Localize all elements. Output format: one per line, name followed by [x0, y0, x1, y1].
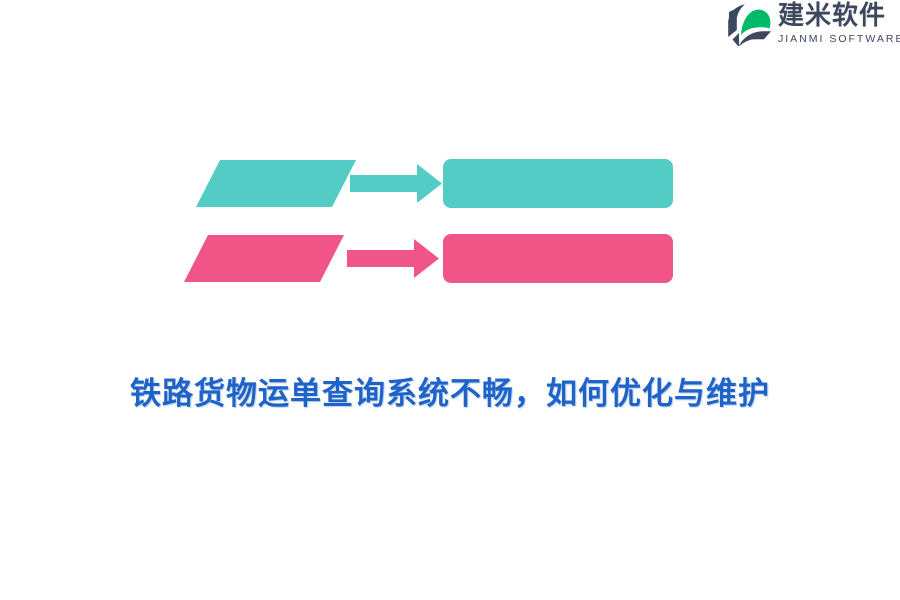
right-arrow-icon: [347, 239, 439, 278]
page-title: 铁路货物运单查询系统不畅，如何优化与维护: [0, 368, 900, 413]
flow-row-pink: [184, 234, 673, 283]
flow-parallelogram-pink: [184, 235, 344, 282]
brand-text-block: 建米软件 JIANMI SOFTWARE: [778, 3, 900, 45]
brand-logo: 建米软件 JIANMI SOFTWARE: [726, 0, 894, 48]
flow-parallelogram-teal: [196, 160, 356, 207]
flow-row-teal: [196, 159, 673, 208]
flow-card-pink: [443, 234, 673, 283]
brand-name-en: JIANMI SOFTWARE: [778, 34, 900, 45]
brand-name-cn: 建米软件: [778, 3, 900, 29]
jianmi-logo-icon: [726, 3, 772, 47]
right-arrow-icon: [350, 164, 442, 203]
flow-card-teal: [443, 159, 673, 208]
process-flow-diagram: [0, 150, 900, 295]
